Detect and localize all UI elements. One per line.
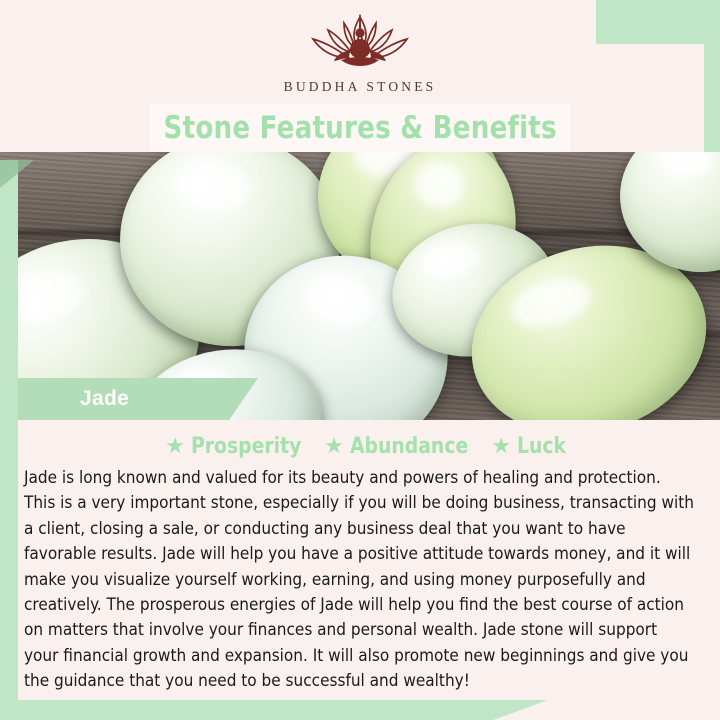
page-title: Stone Features & Benefits xyxy=(163,110,556,146)
benefit-label: Prosperity xyxy=(191,434,301,459)
benefit-label: Luck xyxy=(517,434,566,459)
stone-name-badge: Jade xyxy=(18,378,258,420)
content-panel: ★ Prosperity ★ Abundance ★ Luck Jade is … xyxy=(18,420,720,700)
benefit-item: ★ Luck xyxy=(491,434,568,459)
stone-name: Jade xyxy=(80,387,129,411)
lotus-meditation-icon xyxy=(294,14,426,76)
benefit-label: Abundance xyxy=(350,434,468,459)
star-icon: ★ xyxy=(491,435,511,457)
star-icon: ★ xyxy=(165,435,185,457)
benefit-item: ★ Abundance xyxy=(324,434,474,459)
brand-name: BUDDHA STONES xyxy=(284,79,437,95)
decor-green-left-strip xyxy=(0,160,18,720)
benefit-item: ★ Prosperity xyxy=(165,434,307,459)
star-icon: ★ xyxy=(324,435,344,457)
stone-description: Jade is long known and valued for its be… xyxy=(24,466,700,695)
brand-header: BUDDHA STONES xyxy=(0,0,720,108)
page-title-band: Stone Features & Benefits xyxy=(150,104,570,152)
benefits-row: ★ Prosperity ★ Abundance ★ Luck xyxy=(24,430,710,462)
decor-green-bottom-band xyxy=(0,700,548,720)
